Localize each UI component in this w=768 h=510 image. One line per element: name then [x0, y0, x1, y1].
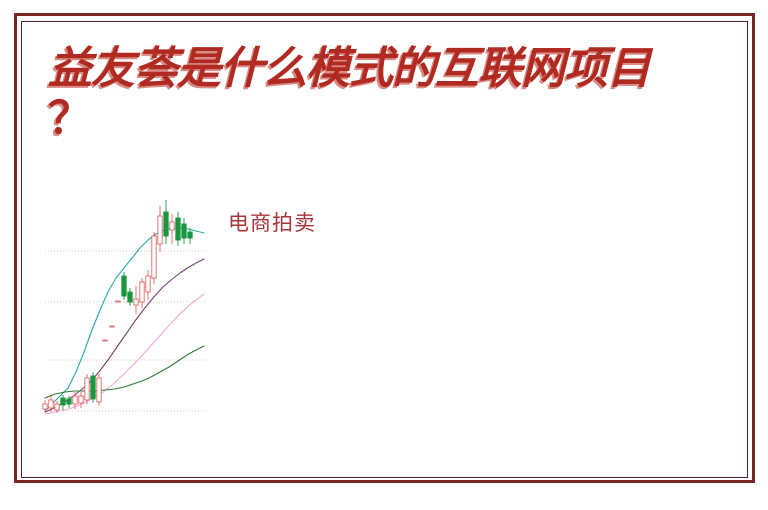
chart-candle — [146, 270, 150, 300]
chart-candle-body — [91, 376, 95, 399]
candlestick-chart — [38, 190, 213, 418]
chart-candle — [158, 206, 162, 252]
chart-candle — [103, 340, 107, 341]
chart-candle-body — [146, 276, 150, 292]
chart-ma-line-ma60 — [45, 346, 204, 398]
poster-canvas: 益友荟是什么模式的互联网项目 ？ 电商拍卖 — [0, 0, 768, 510]
chart-candle-body — [182, 224, 186, 238]
chart-candle-body — [67, 399, 71, 404]
chart-candle-body — [43, 404, 47, 409]
chart-candle-body — [170, 222, 174, 230]
chart-candle-body — [97, 378, 101, 402]
chart-candle-body — [152, 236, 156, 278]
chart-candle — [140, 278, 144, 308]
chart-candle-body — [134, 299, 138, 305]
chart-candle — [176, 212, 180, 246]
chart-ma-line-ma5 — [45, 228, 204, 411]
chart-candle — [110, 326, 114, 327]
chart-candle — [152, 232, 156, 284]
chart-candle-body — [103, 340, 107, 341]
chart-candle — [122, 272, 126, 300]
chart-candle-body — [85, 378, 89, 400]
chart-candle — [116, 301, 120, 302]
chart-candle-body — [73, 396, 77, 404]
chart-candle-body — [188, 232, 192, 238]
chart-caption: 电商拍卖 — [228, 209, 316, 237]
chart-candle-body — [176, 218, 180, 240]
chart-candle — [182, 218, 186, 244]
page-title-line-2: ？ — [48, 94, 768, 144]
page-title: 益友荟是什么模式的互联网项目 ？ — [48, 44, 768, 144]
chart-candle-body — [158, 216, 162, 244]
chart-candle — [91, 372, 95, 403]
chart-candle — [97, 374, 101, 406]
chart-candle-body — [49, 400, 53, 408]
chart-candle — [61, 395, 65, 410]
chart-candle-body — [128, 292, 132, 302]
chart-candle-body — [140, 282, 144, 302]
candlestick-chart-svg — [38, 190, 213, 418]
chart-candle — [164, 200, 168, 244]
chart-candle-body — [164, 212, 168, 236]
chart-candle — [128, 288, 132, 306]
chart-candle — [170, 214, 174, 244]
chart-candle — [85, 374, 89, 404]
chart-candle — [134, 286, 138, 314]
chart-candle-body — [79, 396, 83, 403]
chart-candle-body — [55, 404, 59, 410]
chart-candle-body — [61, 398, 65, 405]
chart-candle-body — [116, 301, 120, 302]
chart-candle-body — [110, 326, 114, 327]
page-title-line-1: 益友荟是什么模式的互联网项目 — [48, 43, 650, 94]
chart-candle-body — [122, 276, 126, 296]
